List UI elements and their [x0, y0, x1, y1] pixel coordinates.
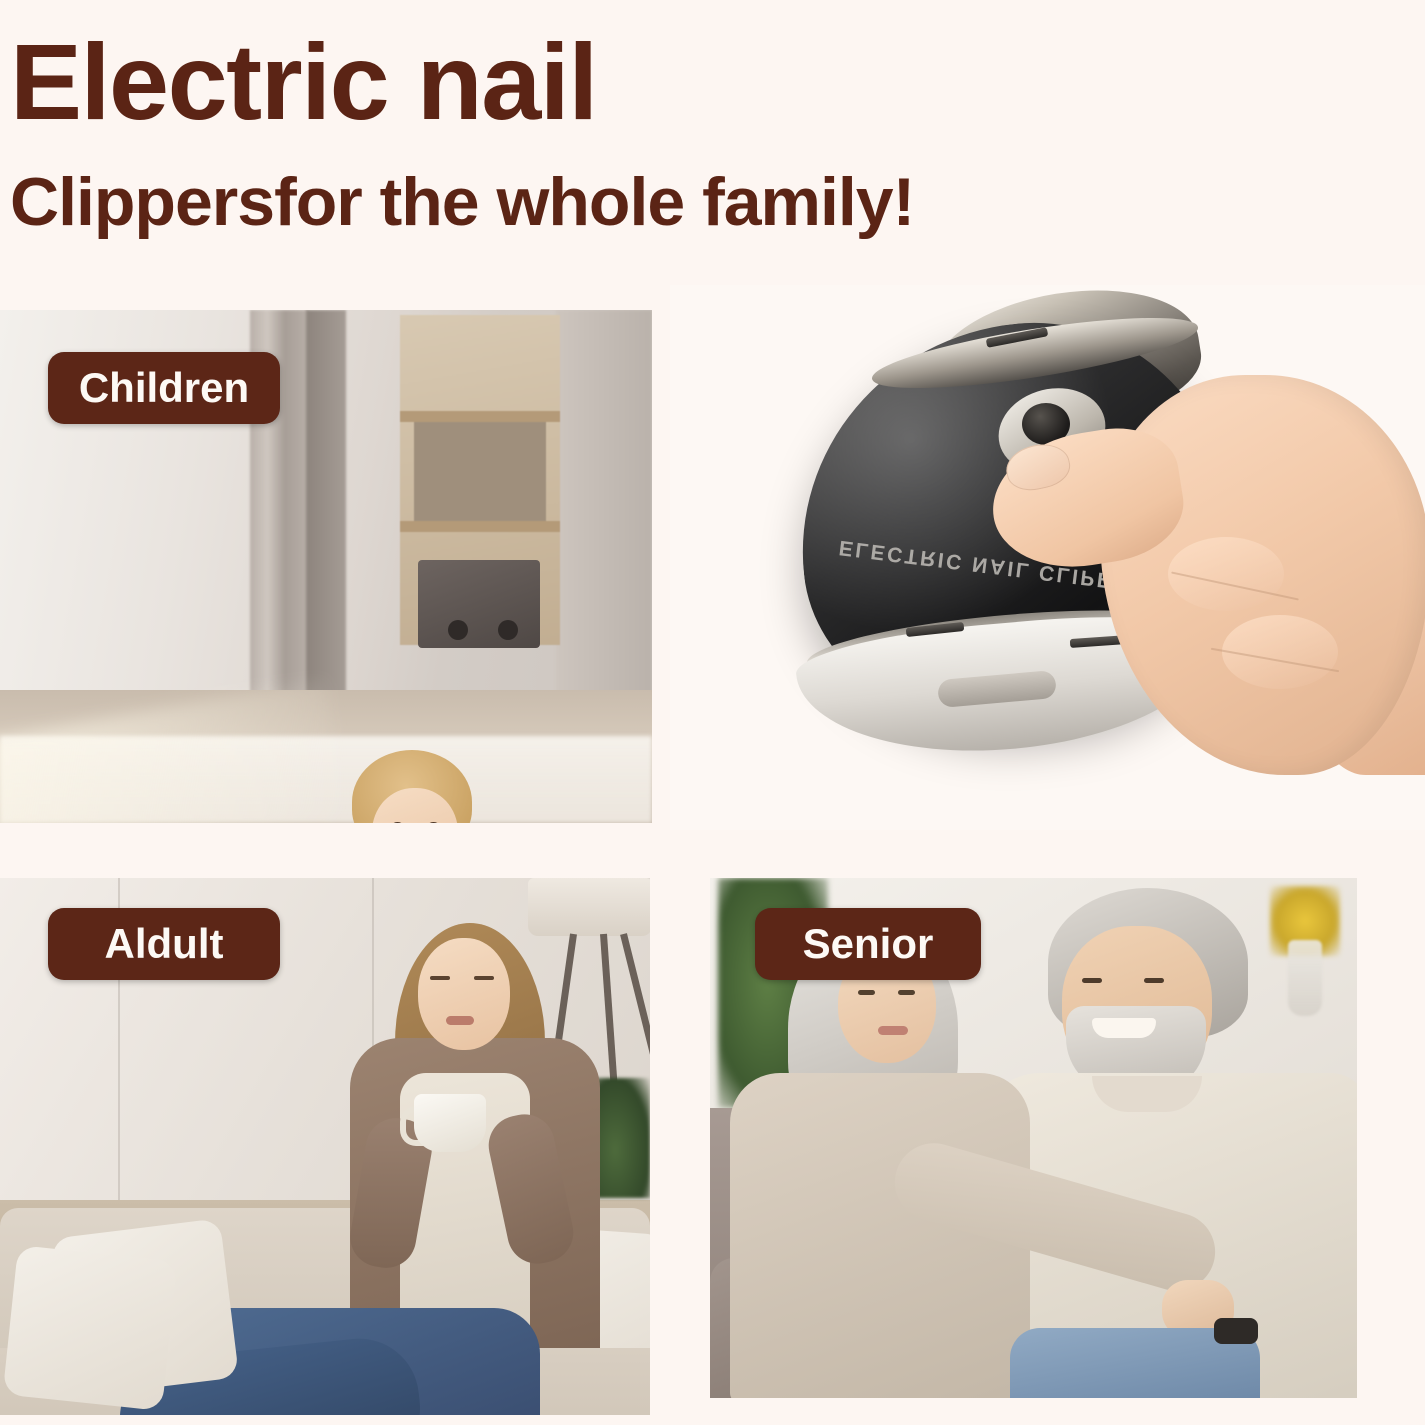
product-stage: ELECTRIC NAIL CLIPPER [670, 285, 1425, 830]
senior-man-eye [1082, 978, 1102, 983]
coffee-mug [414, 1094, 486, 1152]
storage-box-hole [448, 620, 468, 640]
page-title: Electric nail [10, 28, 597, 136]
floor-lamp-shade [528, 878, 650, 936]
shelf-board [400, 411, 560, 422]
shelf-board [400, 521, 560, 532]
child-eye [428, 822, 439, 823]
storage-box-hole [498, 620, 518, 640]
wristwatch [1214, 1318, 1258, 1344]
vase [1288, 940, 1322, 1016]
badge-children-label: Children [79, 364, 249, 412]
badge-adult-label: Aldult [105, 920, 224, 968]
badge-adult[interactable]: Aldult [48, 908, 280, 980]
badge-senior[interactable]: Senior [755, 908, 981, 980]
curtain [306, 310, 346, 720]
shelf-inner [414, 422, 546, 521]
child-eye [392, 822, 403, 823]
senior-man-smile [1092, 1018, 1156, 1038]
badge-senior-label: Senior [803, 920, 934, 968]
woman-eye [474, 976, 494, 980]
senior-woman-eye [858, 990, 875, 995]
house-plant [592, 1078, 650, 1198]
storage-box [418, 560, 540, 648]
sofa-pillow [3, 1245, 178, 1411]
senior-woman-eye [898, 990, 915, 995]
header: Electric nail Clippersfor the whole fami… [0, 0, 1425, 300]
panel-product-photo[interactable]: ELECTRIC NAIL CLIPPER [670, 285, 1425, 830]
woman-eye [430, 976, 450, 980]
senior-woman-lips [878, 1026, 908, 1035]
woman-face [418, 938, 510, 1050]
woman-lips [446, 1016, 474, 1025]
curtain [556, 310, 652, 720]
badge-children[interactable]: Children [48, 352, 280, 424]
page-subtitle: Clippersfor the whole family! [10, 168, 914, 236]
senior-man-eye [1144, 978, 1164, 983]
